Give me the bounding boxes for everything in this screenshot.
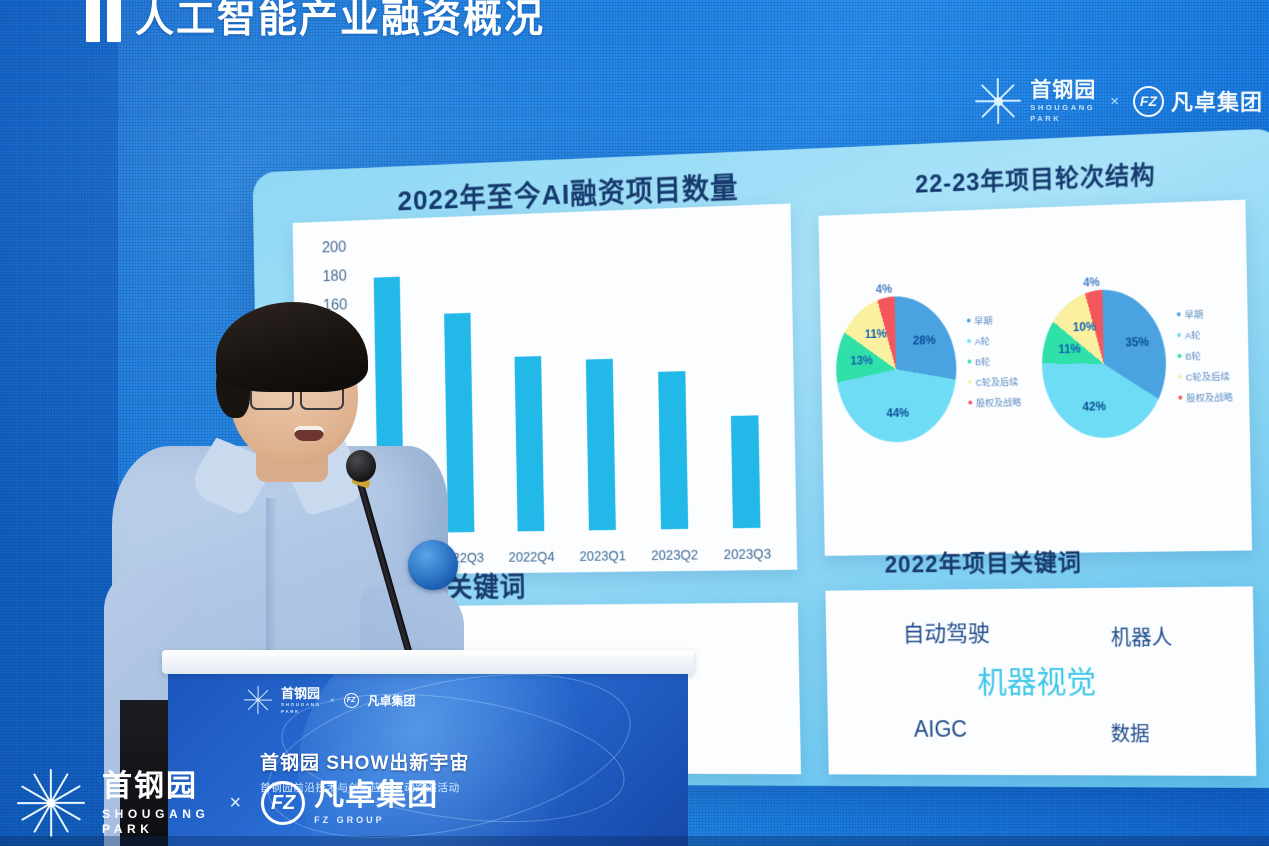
starburst-icon	[975, 78, 1021, 124]
keyword-AIGC: AIGC	[914, 716, 968, 742]
bar-2023Q1	[586, 359, 616, 531]
header-bars-icon	[86, 0, 121, 42]
pie-legend-item: A轮	[1177, 327, 1232, 342]
podium-brand-en1: SHOUGANG	[281, 702, 321, 707]
bar-2023Q2	[658, 371, 688, 529]
pie-slice-label: 35%	[1125, 335, 1149, 349]
shougang-logo: 首钢园 SHOUGANG PARK	[975, 78, 1096, 124]
pie-slice-label: 42%	[1083, 399, 1106, 413]
speaker-mouth	[294, 426, 324, 441]
watermark-en1: SHOUGANG	[102, 808, 209, 820]
bottom-brand-watermark: 首钢园 SHOUGANG PARK × FZ 凡卓集团 FZ GROUP	[16, 768, 438, 838]
legend-dot-icon	[967, 339, 971, 343]
pie-legend-item: B轮	[967, 353, 1020, 368]
legend-dot-icon	[1177, 333, 1181, 337]
podium-starburst-icon	[244, 686, 272, 714]
x-axis-tick: 2022Q4	[509, 550, 555, 566]
podium-partner-cn: 凡卓集团	[368, 692, 416, 709]
pie-legend-item: 股权及战略	[968, 394, 1021, 409]
pie-slice-label: 13%	[850, 354, 873, 368]
podium-brand-en2: PARK	[281, 709, 321, 714]
legend-label: 早期	[974, 313, 992, 327]
legend-label: 股权及战略	[1186, 389, 1233, 404]
watermark-starburst-icon	[16, 768, 86, 838]
legend-dot-icon	[1178, 396, 1182, 400]
legend-dot-icon	[968, 401, 972, 405]
pie-slice-label: 10%	[1073, 319, 1096, 333]
legend-label: C轮及后续	[975, 374, 1018, 389]
fz-badge-icon: FZ	[1133, 86, 1164, 117]
watermark-fz-badge-icon: FZ	[261, 781, 305, 825]
pie-disc	[1041, 288, 1168, 439]
pie-legend-item: 股权及战略	[1178, 389, 1233, 404]
watermark-cn: 首钢园	[102, 772, 209, 802]
pie-legend-item: 早期	[1177, 306, 1232, 322]
watermark-partner-en: FZ GROUP	[314, 816, 438, 825]
legend-label: A轮	[1185, 328, 1201, 342]
pie-slice-label: 11%	[865, 327, 887, 341]
podium-brand-lockup: 首钢园 SHOUGANG PARK × FZ 凡卓集团	[244, 686, 416, 714]
legend-label: 早期	[1184, 307, 1203, 321]
pie-legend: 早期A轮B轮C轮及后续股权及战略	[967, 312, 1022, 416]
pie-disc	[835, 295, 958, 444]
pie-slice-label: 28%	[913, 334, 936, 348]
legend-dot-icon	[1177, 312, 1181, 316]
y-axis-tick: 200	[298, 238, 346, 258]
pie-chart-2023: 35%42%11%10%4%早期A轮B轮C轮及后续股权及战略	[1035, 270, 1245, 493]
pie-chart-panel: 28%44%13%11%4%早期A轮B轮C轮及后续股权及战略 35%42%11%…	[818, 200, 1252, 556]
floor-strip	[0, 836, 1269, 846]
page-title: 人工智能产业融资概况	[135, 0, 545, 44]
header-brand-lockup: 首钢园 SHOUGANG PARK × FZ 凡卓集团	[975, 78, 1263, 124]
keyword-数据: 数据	[1110, 718, 1149, 747]
pie-slice-label: 4%	[1083, 275, 1100, 289]
pie-slice-label: 44%	[886, 406, 909, 420]
pie-legend: 早期A轮B轮C轮及后续股权及战略	[1177, 306, 1233, 412]
x-axis-tick: 2023Q3	[724, 547, 772, 563]
legend-label: A轮	[975, 334, 990, 348]
keyword-自动驾驶: 自动驾驶	[902, 614, 990, 648]
podium-top-surface	[162, 650, 694, 674]
legend-label: B轮	[1185, 348, 1201, 362]
wall-left-panel	[0, 0, 118, 846]
legend-dot-icon	[968, 360, 972, 364]
keywords-2022-title: 2022年项目关键词	[884, 543, 1082, 580]
legend-dot-icon	[967, 319, 971, 323]
x-axis-tick: 2023Q1	[579, 549, 626, 565]
shougang-logo-cn: 首钢园	[1030, 80, 1096, 101]
fanzhuo-logo: FZ 凡卓集团	[1133, 85, 1263, 117]
watermark-x-separator: ×	[229, 792, 241, 815]
pie-legend-item: 早期	[967, 312, 1020, 327]
legend-dot-icon	[968, 380, 972, 384]
slide-header: 人工智能产业融资概况	[86, 0, 545, 44]
pie-legend-item: C轮及后续	[1178, 368, 1233, 383]
pie-slice-label: 11%	[1058, 342, 1081, 356]
shougang-logo-en2: PARK	[1030, 115, 1096, 123]
watermark-en2: PARK	[102, 823, 209, 835]
legend-label: C轮及后续	[1186, 368, 1230, 383]
pie-chart-2022: 28%44%13%11%4%早期A轮B轮C轮及后续股权及战略	[829, 277, 1033, 496]
bar-2022Q4	[515, 356, 545, 531]
pie-legend-item: C轮及后续	[968, 374, 1021, 389]
speaker-hair	[216, 302, 368, 392]
fanzhuo-logo-cn: 凡卓集团	[1171, 85, 1263, 117]
keyword-机器视觉: 机器视觉	[977, 657, 1097, 702]
legend-dot-icon	[1178, 375, 1182, 379]
podium-fz-badge-icon: FZ	[344, 693, 359, 708]
y-axis-tick: 180	[299, 266, 347, 286]
pie-legend-item: A轮	[967, 333, 1020, 348]
pie-legend-item: B轮	[1177, 348, 1232, 363]
podium-brand-cn: 首钢园	[281, 687, 321, 700]
legend-label: 股权及战略	[976, 394, 1022, 409]
microphone-head-icon	[346, 450, 376, 482]
watermark-partner-logo: FZ 凡卓集团 FZ GROUP	[261, 781, 438, 825]
keyword-机器人: 机器人	[1111, 621, 1173, 651]
podium-x-separator: ×	[330, 696, 335, 705]
watermark-partner-cn: 凡卓集团	[314, 781, 438, 811]
x-axis-tick: 2023Q2	[651, 548, 698, 564]
bar-2023Q3	[731, 415, 761, 528]
legend-dot-icon	[1178, 354, 1182, 358]
legend-label: B轮	[975, 354, 990, 368]
brand-x-separator: ×	[1110, 93, 1119, 110]
keywords-2022-panel: 自动驾驶机器人机器视觉AIGC数据	[825, 586, 1256, 776]
speaker-badge	[408, 540, 458, 590]
pie-slice-label: 4%	[876, 282, 892, 296]
shougang-logo-en1: SHOUGANG	[1030, 104, 1096, 112]
